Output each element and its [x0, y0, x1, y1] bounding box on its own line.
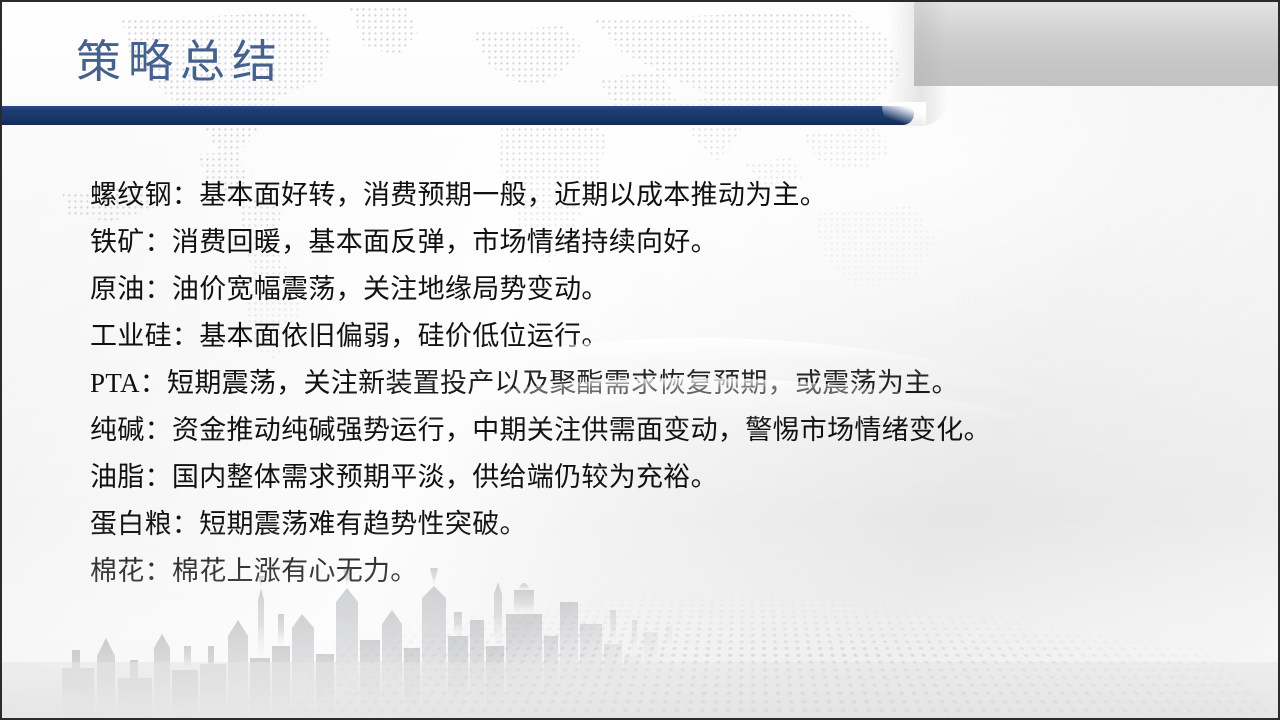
page-title: 策略总结 — [76, 30, 284, 94]
summary-list: 螺纹钢：基本面好转，消费预期一般，近期以成本推动为主。铁矿：消费回暖，基本面反弹… — [90, 172, 1210, 595]
summary-line: 原油：油价宽幅震荡，关注地缘局势变动。 — [90, 266, 1210, 313]
summary-line: 蛋白粮：短期震荡难有趋势性突破。 — [90, 501, 1210, 548]
summary-line: 油脂：国内整体需求预期平淡，供给端仍较为充裕。 — [90, 454, 1210, 501]
summary-line: 棉花：棉花上涨有心无力。 — [90, 548, 1210, 595]
summary-line: 工业硅：基本面依旧偏弱，硅价低位运行。 — [90, 313, 1210, 360]
summary-line: 螺纹钢：基本面好转，消费预期一般，近期以成本推动为主。 — [90, 172, 1210, 219]
summary-line: PTA：短期震荡，关注新装置投产以及聚酯需求恢复预期，或震荡为主。 — [90, 360, 1210, 407]
slide-canvas: 策略总结 螺纹钢：基本面好转，消费预期一般，近期以成本推动为主。铁矿：消费回暖，… — [0, 0, 1280, 720]
summary-line: 纯碱：资金推动纯碱强势运行，中期关注供需面变动，警惕市场情绪变化。 — [90, 407, 1210, 454]
summary-line: 铁矿：消费回暖，基本面反弹，市场情绪持续向好。 — [90, 219, 1210, 266]
accent-bar — [2, 106, 914, 125]
